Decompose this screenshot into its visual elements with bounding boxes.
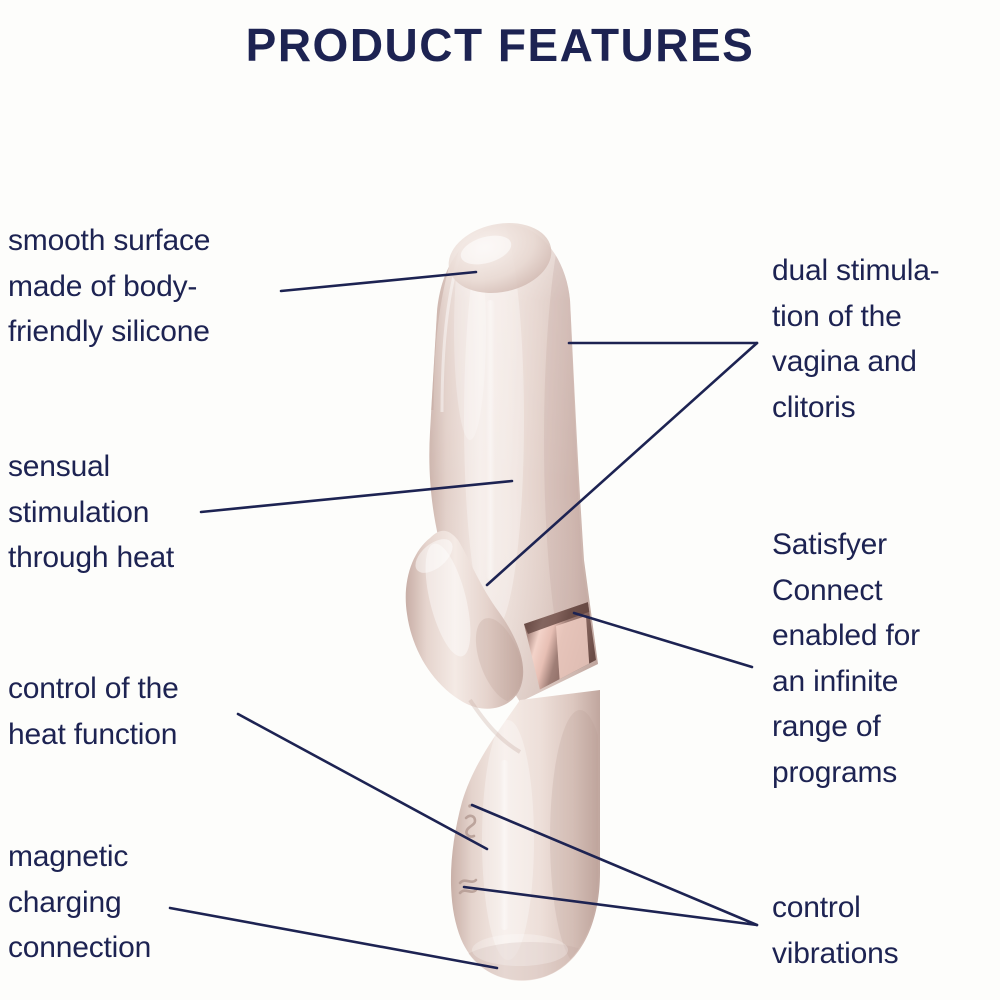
leader-control-vibrations-b (464, 887, 757, 925)
page-title: PRODUCT FEATURES (0, 18, 1000, 72)
callout-smooth-surface: smooth surface made of body- friendly si… (8, 218, 308, 355)
callout-heat-control: control of the heat function (8, 666, 298, 757)
product-shaft (429, 190, 616, 702)
product-clitoral-arm (406, 531, 534, 709)
leader-satisfyer-connect (574, 613, 752, 667)
heat-button-icon (466, 804, 475, 836)
callout-control-vibrations: control vibrations (772, 885, 1000, 976)
leader-smooth-surface (281, 272, 476, 291)
metal-band (524, 598, 600, 690)
product-features-infographic: PRODUCT FEATURES smooth surface made of … (0, 0, 1000, 1000)
product-handle (451, 690, 610, 994)
leader-control-vibrations-a (472, 805, 757, 925)
product-specular-highlights (486, 300, 509, 930)
callout-sensual-heat: sensual stimulation through heat (8, 444, 298, 581)
vibration-button-icon (460, 880, 476, 893)
callout-dual-stimulation: dual stimula- tion of the vagina and cli… (772, 248, 1000, 430)
callout-satisfyer-connect: Satisfyer Connect enabled for an infinit… (772, 522, 1000, 796)
callout-magnetic-charging: magnetic charging connection (8, 834, 298, 971)
leader-dual-stimulation-b (487, 343, 757, 585)
